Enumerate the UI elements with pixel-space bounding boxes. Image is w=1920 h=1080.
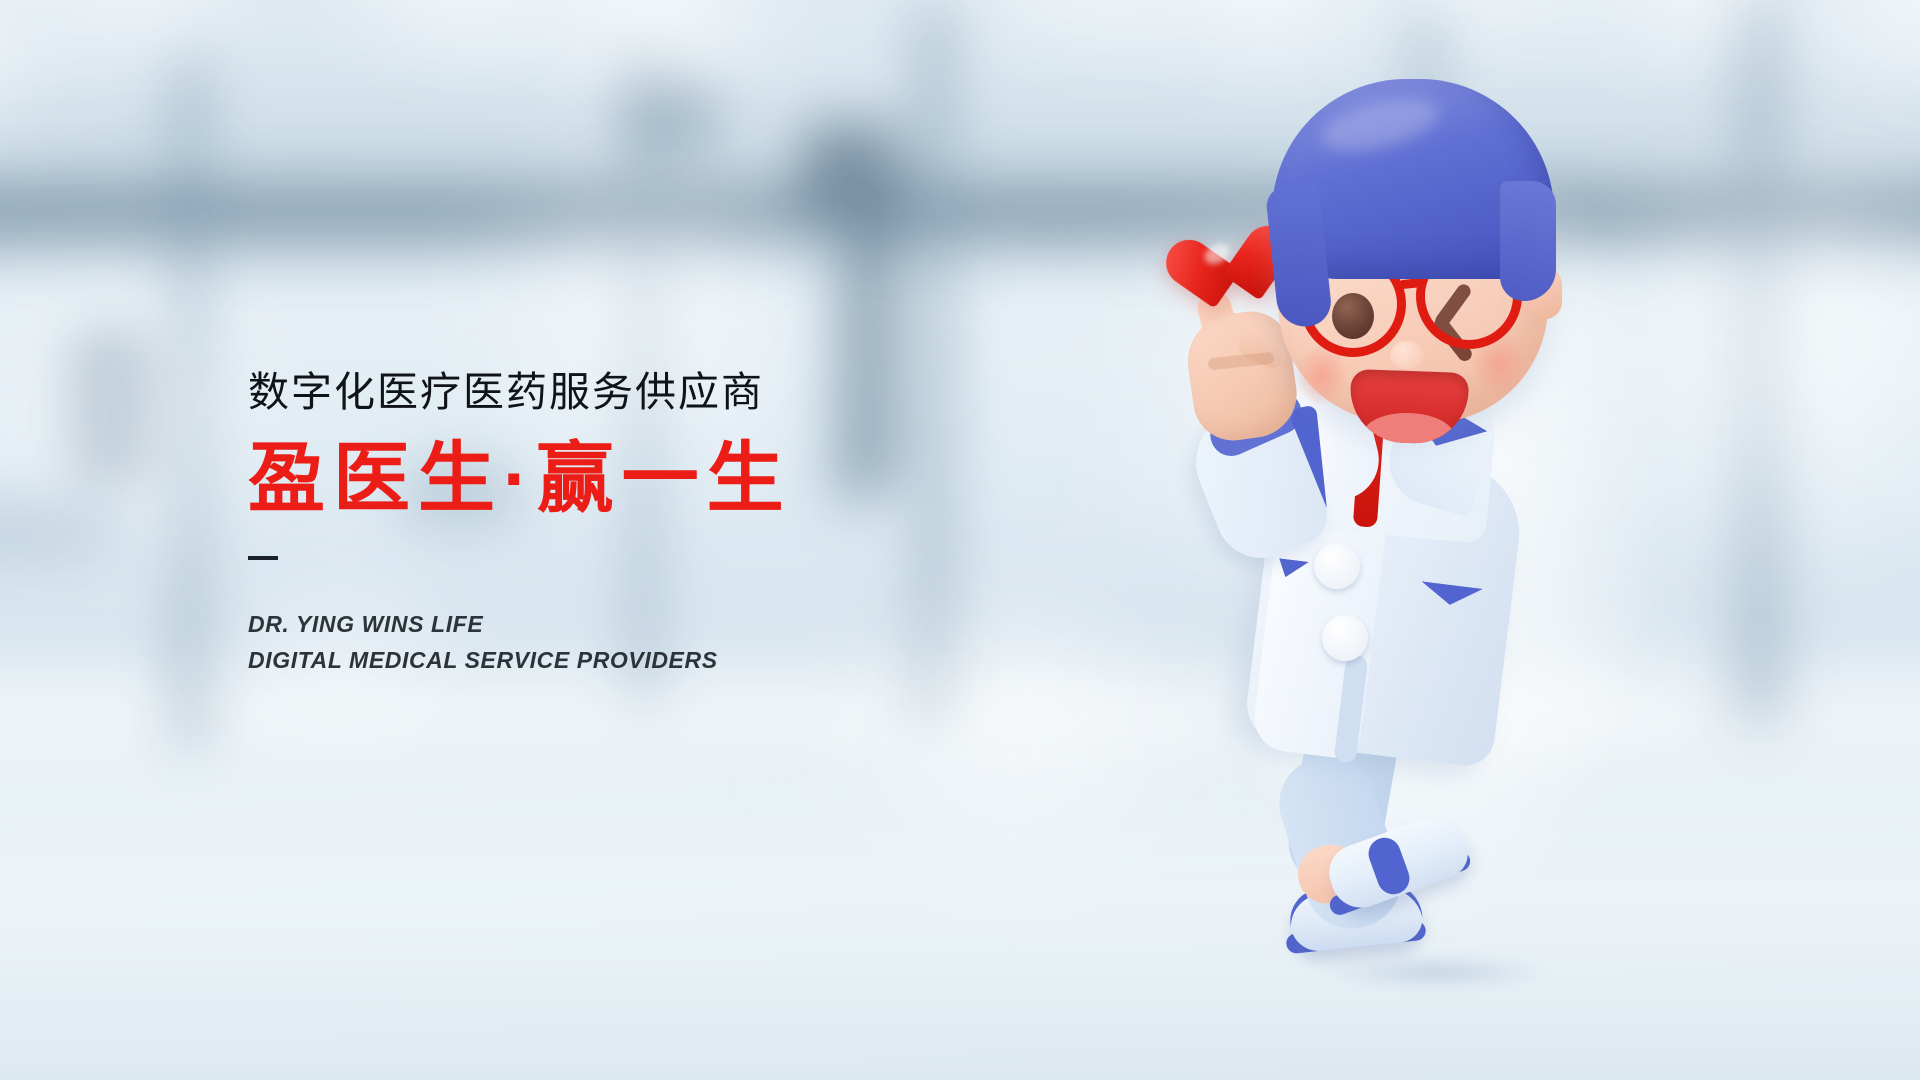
hair-sideburn-right [1500, 181, 1556, 301]
tongue [1362, 411, 1456, 445]
coat-button-bottom [1322, 615, 1368, 661]
heart-icon [1184, 224, 1280, 315]
hero-headline: 盈医生·赢一生 [248, 439, 1008, 520]
hero-english-block: DR. YING WINS LIFE DIGITAL MEDICAL SERVI… [248, 606, 1008, 679]
hero-kicker: 数字化医疗医药服务供应商 [248, 372, 1008, 413]
glow-left [0, 267, 262, 567]
hero-copy: 数字化医疗医药服务供应商 盈医生·赢一生 DR. YING WINS LIFE … [248, 372, 1008, 679]
hero-divider-rule [248, 556, 278, 560]
hero-english-line-2: DIGITAL MEDICAL SERVICE PROVIDERS [248, 642, 1008, 678]
coat-button-top [1314, 543, 1360, 589]
hero-banner: 数字化医疗医药服务供应商 盈医生·赢一生 DR. YING WINS LIFE … [0, 0, 1920, 1080]
doctor-mascot-illustration [1180, 55, 1640, 1065]
nose [1390, 341, 1424, 369]
character-ground-shadow [1320, 955, 1550, 989]
hero-english-line-1: DR. YING WINS LIFE [248, 606, 1008, 642]
smiling-mouth [1349, 369, 1469, 445]
